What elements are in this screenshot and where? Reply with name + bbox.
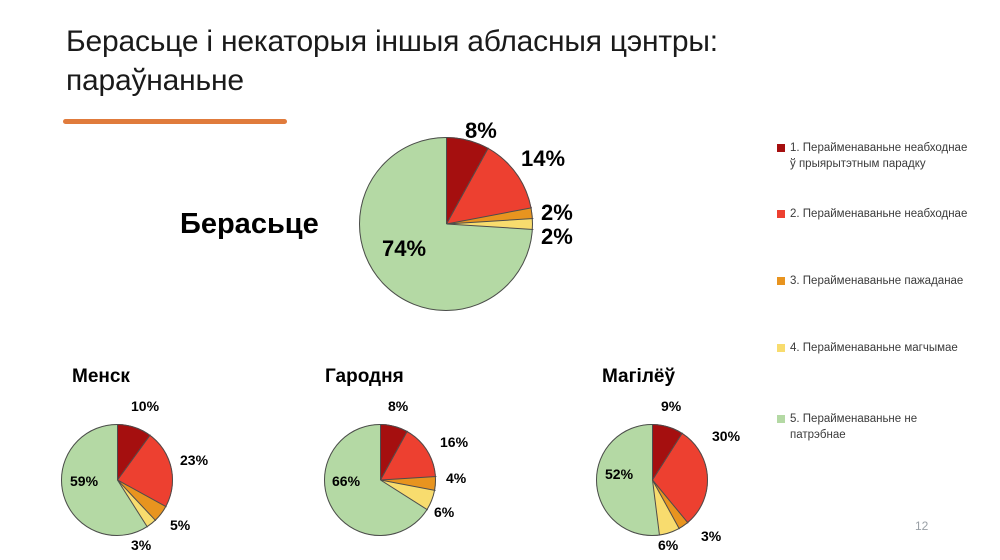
pie-slice-divider (652, 424, 653, 480)
legend-swatch-3-icon (777, 277, 785, 285)
legend-item-5[interactable]: 5. Перайменаваньне не патрэбнае (777, 411, 973, 444)
pie-value-grodna-2: 16% (440, 434, 468, 450)
pie-value-grodna-1: 8% (388, 398, 408, 414)
pie-value-grodna-3: 4% (446, 470, 466, 486)
legend-label-2: 2. Перайменаваньне неабходнае (790, 206, 967, 222)
legend-swatch-4-icon (777, 344, 785, 352)
pie-value-berascie-1: 8% (465, 118, 497, 144)
pie-slice-divider (117, 424, 118, 480)
page-title: Берасьце і некаторыя іншыя абласныя цэнт… (66, 22, 856, 100)
legend-label-4: 4. Перайменаваньне магчымае (790, 340, 958, 356)
pie-value-mahiliou-2: 30% (712, 428, 740, 444)
pie-chart-berascie[interactable] (359, 137, 533, 311)
pie-title-mahiliou: Магілёў (602, 366, 675, 388)
legend-item-4[interactable]: 4. Перайменаваньне магчымае (777, 340, 973, 356)
pie-value-berascie-2: 14% (521, 146, 565, 172)
legend-swatch-2-icon (777, 210, 785, 218)
title-underline-rule (63, 119, 287, 124)
pie-value-berascie-5: 74% (382, 236, 426, 262)
pie-value-mahiliou-3: 3% (701, 528, 721, 544)
legend-label-3: 3. Перайменаваньне пажаданае (790, 273, 963, 289)
pie-title-grodna: Гародня (325, 366, 404, 388)
pie-value-grodna-4: 6% (434, 504, 454, 520)
pie-value-mahiliou-5: 52% (605, 466, 633, 482)
legend-label-5: 5. Перайменаваньне не патрэбнае (790, 411, 973, 444)
pie-title-berascie: Берасьце (180, 208, 319, 241)
pie-value-minsk-3: 5% (170, 517, 190, 533)
pie-value-berascie-3: 2% (541, 200, 573, 226)
slide-page-number: 12 (915, 519, 928, 533)
pie-value-mahiliou-1: 9% (661, 398, 681, 414)
slide-canvas: Берасьце і некаторыя іншыя абласныя цэнт… (0, 0, 1000, 560)
pie-value-berascie-4: 2% (541, 224, 573, 250)
pie-title-minsk: Менск (72, 366, 130, 388)
legend-swatch-5-icon (777, 415, 785, 423)
pie-slice-divider (446, 137, 447, 224)
pie-value-minsk-2: 23% (180, 452, 208, 468)
pie-slice-divider (380, 424, 381, 480)
legend-swatch-1-icon (777, 144, 785, 152)
pie-value-mahiliou-4: 6% (658, 537, 678, 553)
pie-value-minsk-4: 3% (131, 537, 151, 553)
pie-value-minsk-5: 59% (70, 473, 98, 489)
legend-label-1: 1. Перайменаваньне неабходнае ў прыярытэ… (790, 140, 973, 173)
legend-item-3[interactable]: 3. Перайменаваньне пажаданае (777, 273, 973, 289)
pie-value-grodna-5: 66% (332, 473, 360, 489)
pie-value-minsk-1: 10% (131, 398, 159, 414)
legend-item-1[interactable]: 1. Перайменаваньне неабходнае ў прыярытэ… (777, 140, 973, 173)
legend-item-2[interactable]: 2. Перайменаваньне неабходнае (777, 206, 973, 222)
